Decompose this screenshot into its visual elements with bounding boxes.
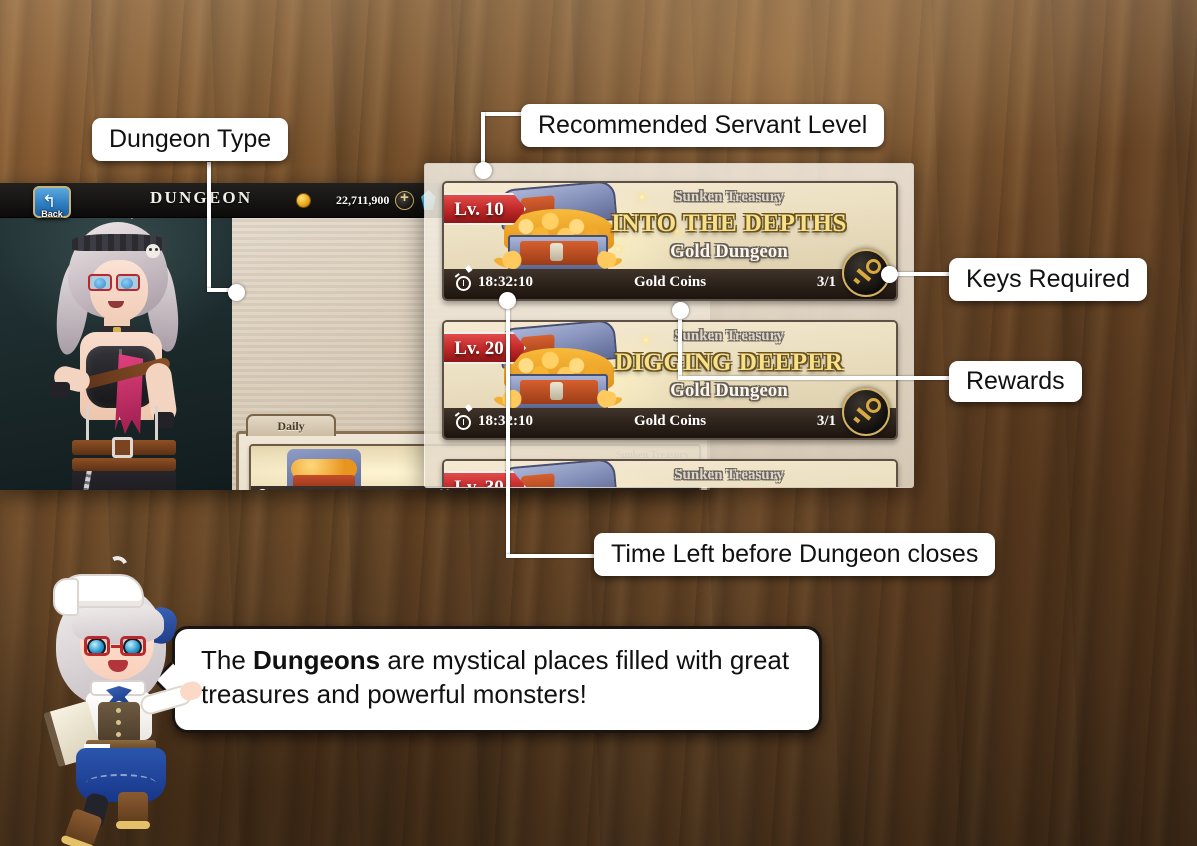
coin-amount: 22,711,900 [336, 193, 389, 208]
callout-time-left: Time Left before Dungeon closes [594, 533, 995, 576]
speech-text-bold: Dungeons [253, 645, 380, 675]
card-subtitle: Sunken Treasury [584, 467, 874, 484]
card-title: DIGGING DEEPER [584, 349, 874, 377]
back-arrow-icon: ↰ [42, 193, 56, 210]
card-keys-required: 3/1 [817, 413, 836, 430]
connector-time-left [506, 298, 510, 556]
connector-rewards [678, 376, 956, 380]
card-subtitle: Sunken Treasury [584, 189, 874, 206]
key-icon[interactable] [842, 388, 890, 436]
card-title: INTO THE DEPTHS [584, 210, 874, 238]
page-title: DUNGEON [150, 188, 252, 208]
connector-dot-keys-required [881, 266, 898, 283]
callout-recommended-level: Recommended Servant Level [521, 104, 884, 147]
connector-dot-dungeon-type [228, 284, 245, 301]
zoomed-dungeon-cards-panel: Lv. 10 Sunken Treasury INTO THE DEPTHS G… [424, 163, 914, 488]
connector-time-left [506, 554, 596, 558]
card-keys-required: 3/1 [817, 274, 836, 291]
connector-keys-required [888, 272, 956, 276]
callout-keys-required: Keys Required [949, 258, 1147, 301]
connector-dot-rewards [672, 302, 689, 319]
add-currency-button[interactable] [395, 191, 414, 210]
back-button-label: Back [35, 209, 69, 219]
connector-dot-time-left [499, 292, 516, 309]
card-dungeon-type: Gold Dungeon [584, 241, 874, 263]
gold-coin-icon [296, 193, 311, 208]
servant-character-art [20, 218, 215, 490]
dungeon-card[interactable]: Lv. 20 Sunken Treasury DIGGING DEEPER Go… [442, 320, 898, 440]
callout-rewards: Rewards [949, 361, 1082, 402]
level-badge: Lv. 10 [444, 193, 526, 225]
dungeon-card[interactable]: Lv. 10 Sunken Treasury INTO THE DEPTHS G… [442, 181, 898, 301]
clock-icon [257, 489, 268, 490]
chibi-guide-character [28, 556, 213, 826]
back-button[interactable]: ↰ Back [33, 186, 71, 218]
callout-dungeon-type: Dungeon Type [92, 118, 288, 161]
dungeon-card[interactable]: Lv. 30 Sunken Treasury [442, 459, 898, 488]
coin-icon: ● [409, 489, 415, 490]
tutorial-speech-box: The Dungeons are mystical places filled … [172, 626, 822, 733]
card-subtitle: Sunken Treasury [584, 328, 874, 345]
treasure-chest-icon [287, 449, 361, 490]
connector-dungeon-type [207, 162, 211, 292]
card-reward: Gold Coins [426, 488, 479, 490]
card-footer: 18:32:10 Gold Coins 3/1 [444, 408, 896, 438]
connector-dot-recommended-level [475, 162, 492, 179]
level-badge: Lv. 30 [444, 471, 526, 488]
card-time: 18:32:45 [273, 488, 313, 490]
tab-daily[interactable]: Daily [246, 414, 336, 436]
level-badge: Lv. 20 [444, 332, 526, 364]
card-dungeon-type: Gold Dungeon [584, 380, 874, 402]
